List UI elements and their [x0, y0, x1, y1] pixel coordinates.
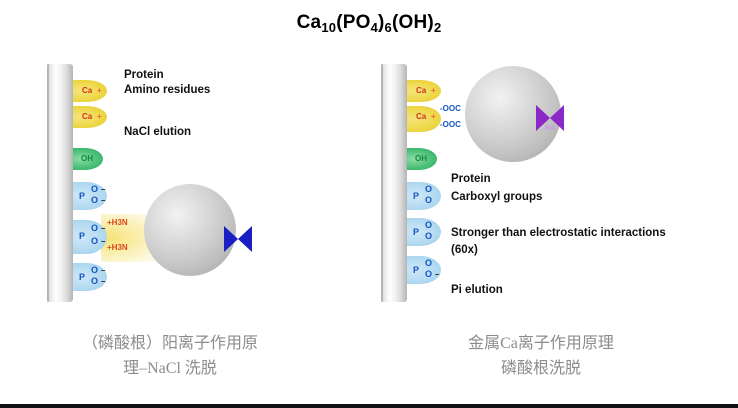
protein-sphere-left — [144, 184, 236, 276]
ammonium-label-2: +H3N — [107, 244, 128, 252]
bowtie-right-triangle-icon — [238, 226, 252, 252]
calcium-charge: + — [97, 87, 102, 95]
resin-column-right — [381, 64, 407, 302]
phosphorus-label: P — [79, 232, 85, 241]
oxygen-charge: – — [101, 238, 105, 246]
hydroxyl-group-left: OH — [73, 148, 113, 170]
calcium-group-2-left: Ca + — [73, 106, 119, 128]
calcium-group-1-left: Ca + — [73, 80, 119, 102]
calcium-label: Ca — [416, 113, 426, 121]
oxygen-label: O — [425, 259, 432, 268]
slide-canvas: Ca10(PO4)6(OH)2 Ca + Ca + OH P O – O — [0, 0, 738, 408]
carboxylate-label-2: -OOC — [440, 121, 461, 129]
phosphorus-label: P — [413, 266, 419, 275]
note-protein-right: Protein — [451, 172, 491, 187]
oxygen-label: O — [91, 185, 98, 194]
oxygen-charge: – — [101, 186, 105, 194]
note-stronger-interactions: Stronger than electrostatic interactions — [451, 226, 666, 241]
right-diagram-panel: Ca + Ca + -OOC -OOC OH P O O P O O — [369, 0, 738, 408]
oxygen-label: O — [91, 266, 98, 275]
caption-right: 金属Ca离子作用原理 磷酸根洗脱 — [391, 331, 691, 381]
hydroxyl-label: OH — [81, 155, 93, 163]
oxygen-label: O — [425, 270, 432, 279]
oxygen-label: O — [425, 221, 432, 230]
oxygen-charge: – — [101, 278, 105, 286]
note-carboxyl-groups: Carboxyl groups — [451, 190, 542, 205]
purple-bowtie-marker: NA — [536, 105, 564, 131]
oxygen-label: O — [425, 232, 432, 241]
oxygen-label: O — [425, 185, 432, 194]
caption-left: （磷酸根）阳离子作用原 理–NaCl 洗脱 — [0, 331, 340, 381]
note-pi-elution: Pi elution — [451, 283, 503, 298]
oxygen-label: O — [91, 196, 98, 205]
oxygen-label: O — [91, 277, 98, 286]
hydroxyl-label: OH — [415, 155, 427, 163]
oxygen-label: O — [91, 224, 98, 233]
calcium-label: Ca — [416, 87, 426, 95]
phosphate-group-1-left: P O – O – — [73, 182, 129, 210]
phosphorus-label: P — [79, 273, 85, 282]
calcium-charge: + — [97, 113, 102, 121]
calcium-label: Ca — [82, 87, 92, 95]
caption-left-line2: 理–NaCl 洗脱 — [0, 356, 340, 381]
phosphorus-label: P — [413, 192, 419, 201]
phosphate-group-3-right: P O O – — [407, 256, 463, 284]
ammonium-label-1: +H3N — [107, 219, 128, 227]
oxygen-label: O — [425, 196, 432, 205]
note-60x: (60x) — [451, 243, 478, 258]
oxygen-charge: – — [101, 225, 105, 233]
note-nacl-elution: NaCl elution — [124, 125, 191, 140]
bowtie-left-triangle-icon — [224, 226, 238, 252]
caption-right-line1: 金属Ca离子作用原理 — [391, 331, 691, 356]
carboxylate-label-1: -OOC — [440, 105, 461, 113]
caption-right-line2: 磷酸根洗脱 — [391, 356, 691, 381]
phosphorus-label: P — [79, 192, 85, 201]
note-amino-residues: Amino residues — [124, 83, 210, 98]
calcium-group-1-right: Ca + — [407, 80, 453, 102]
blue-bowtie-marker — [224, 226, 252, 252]
note-protein-left: Protein — [124, 68, 164, 83]
calcium-label: Ca — [82, 113, 92, 121]
oxygen-charge: – — [435, 271, 439, 279]
calcium-charge: + — [431, 113, 436, 121]
bottom-border — [0, 404, 738, 408]
oxygen-charge: – — [101, 267, 105, 275]
bowtie-na-label: NA — [536, 125, 564, 132]
oxygen-label: O — [91, 237, 98, 246]
caption-left-line1: （磷酸根）阳离子作用原 — [0, 331, 340, 356]
oxygen-charge: – — [101, 197, 105, 205]
phosphate-group-3-left: P O – O – — [73, 263, 129, 291]
left-diagram-panel: Ca + Ca + OH P O – O – P O – — [0, 0, 369, 408]
calcium-charge: + — [431, 87, 436, 95]
phosphorus-label: P — [413, 228, 419, 237]
hydroxyl-group-right: OH — [407, 148, 447, 170]
resin-column-left — [47, 64, 73, 302]
